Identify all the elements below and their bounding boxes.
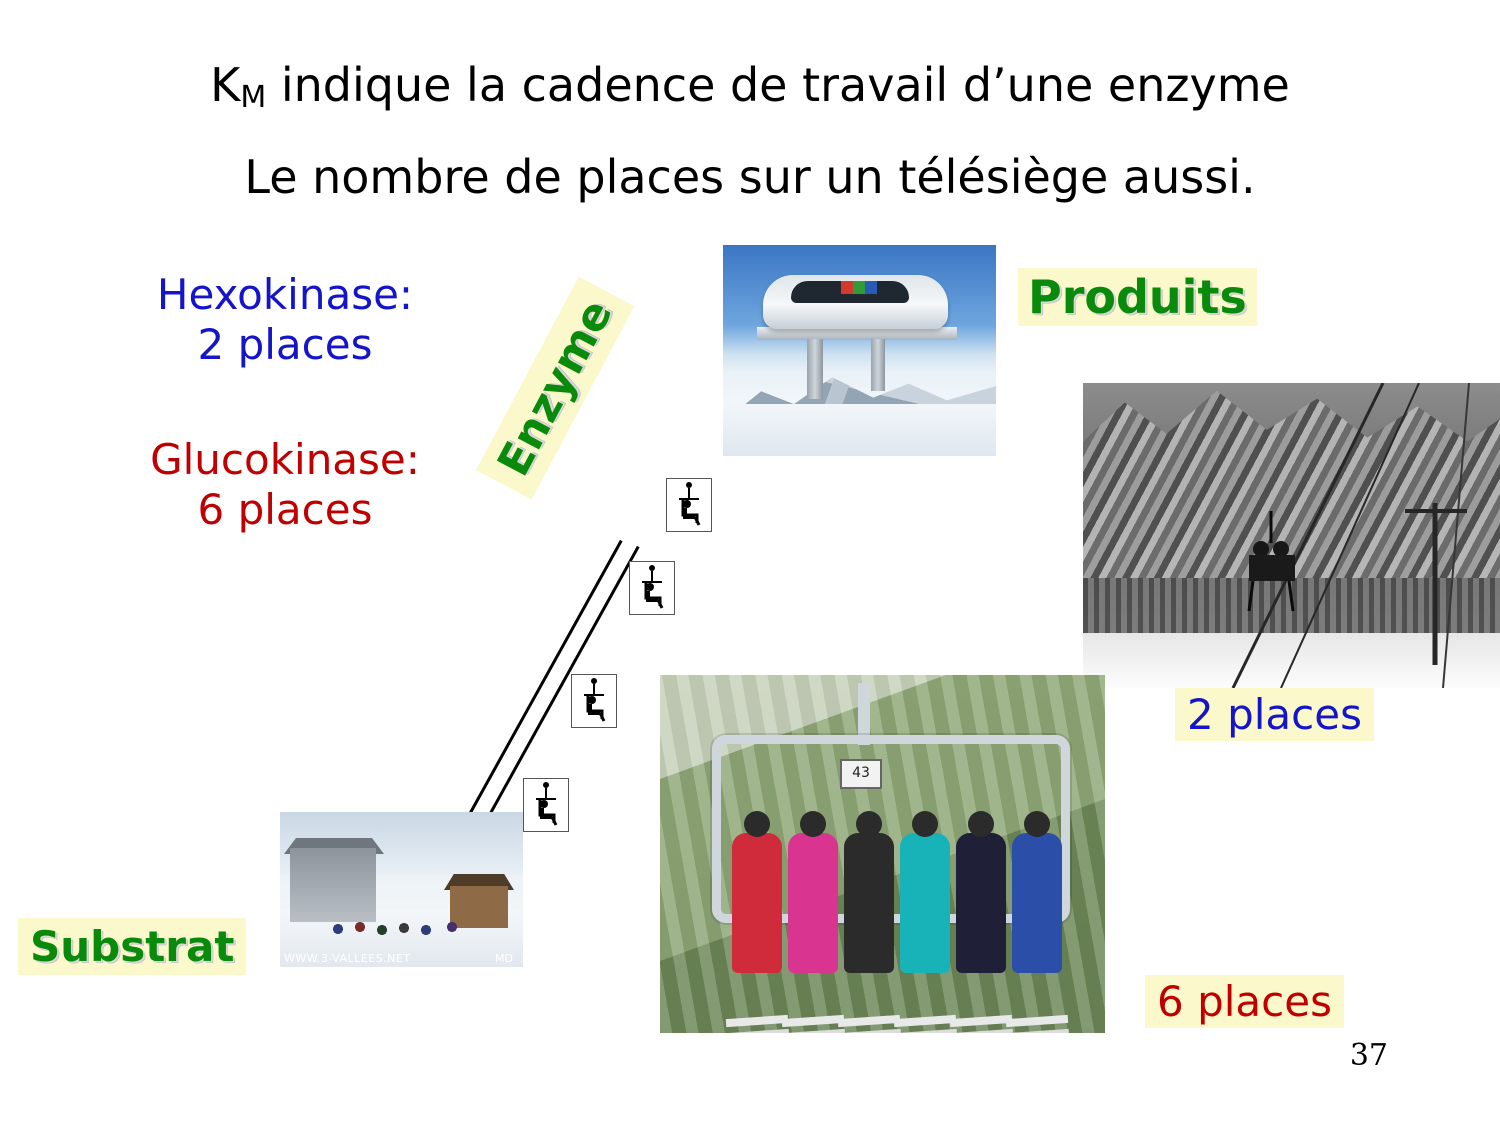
skier-4 — [900, 833, 950, 973]
station-pylon-left — [807, 339, 823, 399]
page-title-line-1: KM indique la cadence de travail d’une e… — [0, 58, 1500, 115]
chairlift-cable-lines — [1083, 383, 1500, 688]
chairlift-pictogram-2 — [629, 561, 675, 615]
skier-1 — [732, 833, 782, 973]
chairlift-icon — [572, 675, 616, 727]
label-glucokinase-line2: 6 places — [90, 485, 480, 535]
skier-head — [744, 811, 770, 837]
label-hexokinase-line2: 2 places — [95, 320, 475, 370]
label-produits: Produits — [1018, 268, 1257, 326]
skier-head — [1024, 811, 1050, 837]
photo-lift-top-station — [723, 245, 996, 456]
skier-2 — [788, 833, 838, 973]
skier-head — [800, 811, 826, 837]
title-km-k: K — [210, 58, 240, 112]
snow-ground — [723, 404, 996, 456]
chairlift-icon — [630, 562, 674, 614]
chair-number-plate: 43 — [840, 759, 882, 789]
slide-canvas: KM indique la cadence de travail d’une e… — [0, 0, 1500, 1125]
label-glucokinase: Glucokinase: 6 places — [90, 435, 480, 534]
station-colour-logo — [841, 281, 877, 294]
label-hexokinase-line1: Hexokinase: — [95, 270, 475, 320]
chairlift-icon — [667, 479, 711, 531]
skier-5 — [956, 833, 1006, 973]
chairlift-pictogram-3 — [571, 674, 617, 728]
label-hexokinase: Hexokinase: 2 places — [95, 270, 475, 369]
photo-chairlift-base-station: WWW.3-VALLEES.NET MD — [280, 812, 523, 967]
photo-watermark-left: WWW.3-VALLEES.NET — [284, 952, 411, 965]
chairlift-pictogram-4 — [523, 778, 569, 832]
skier-6 — [1012, 833, 1062, 973]
chairlift-seat-with-two-skiers — [1249, 511, 1295, 611]
photo-watermark-right: MD — [495, 952, 513, 965]
photo-old-two-seat-chairlift — [1083, 383, 1500, 688]
title-km-subscript: M — [240, 80, 266, 115]
chairlift-pictogram-1 — [666, 478, 712, 532]
skier-3 — [844, 833, 894, 973]
skier-head — [856, 811, 882, 837]
label-6-places: 6 places — [1145, 975, 1344, 1028]
queueing-skiers — [330, 903, 480, 937]
label-glucokinase-line1: Glucokinase: — [90, 435, 480, 485]
photo-six-seat-chairlift: 43 — [660, 675, 1105, 1033]
label-2-places: 2 places — [1175, 688, 1374, 741]
page-title-line-2: Le nombre de places sur un télésiège aus… — [0, 150, 1500, 204]
chairlift-icon — [524, 779, 568, 831]
skier-head — [968, 811, 994, 837]
skier-head — [912, 811, 938, 837]
station-pylon-right — [871, 339, 885, 391]
title-line-1-rest: indique la cadence de travail d’une enzy… — [266, 58, 1290, 112]
label-enzyme: Enzyme — [476, 276, 635, 499]
page-number: 37 — [1350, 1038, 1388, 1073]
label-substrat: Substrat — [18, 918, 246, 975]
